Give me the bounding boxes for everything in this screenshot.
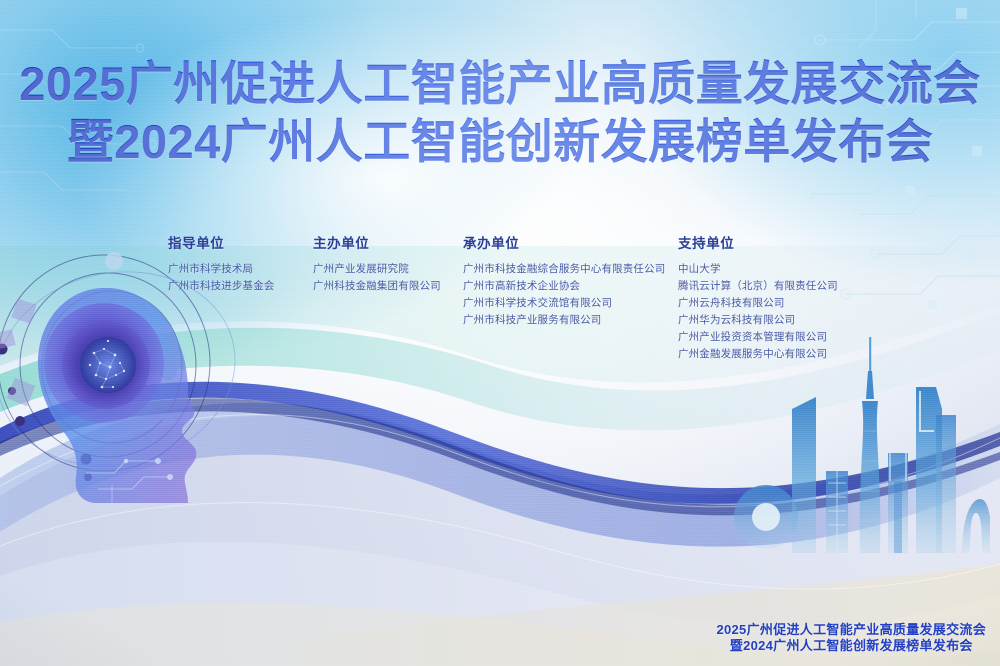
org-item: 广州市科学技术交流馆有限公司: [463, 295, 678, 312]
title-line-2: 暨2024广州人工智能创新发展榜单发布会: [0, 116, 1000, 169]
org-item: 广州金融发展服务中心有限公司: [678, 346, 858, 363]
org-item: 腾讯云计算（北京）有限责任公司: [678, 278, 858, 295]
org-item: 广州科技金融集团有限公司: [313, 278, 463, 295]
org-item: 广州产业发展研究院: [313, 261, 463, 278]
org-item: 中山大学: [678, 261, 858, 278]
org-heading: 支持单位: [678, 232, 858, 252]
org-column-support: 支持单位 中山大学 腾讯云计算（北京）有限责任公司 广州云舟科技有限公司 广州华…: [678, 232, 858, 363]
org-item: 广州市科学技术局: [168, 261, 313, 278]
conference-backdrop: 2025广州促进人工智能产业高质量发展交流会 暨2024广州人工智能创新发展榜单…: [0, 0, 1000, 666]
org-item: 广州华为云科技有限公司: [678, 312, 858, 329]
org-heading: 指导单位: [168, 232, 313, 252]
org-item: 广州云舟科技有限公司: [678, 295, 858, 312]
organization-columns: 指导单位 广州市科学技术局 广州市科技进步基金会 主办单位 广州产业发展研究院 …: [168, 232, 858, 363]
org-item: 广州产业投资资本管理有限公司: [678, 329, 858, 346]
org-item: 广州市科技产业服务有限公司: [463, 312, 678, 329]
event-title: 2025广州促进人工智能产业高质量发展交流会 暨2024广州人工智能创新发展榜单…: [0, 58, 1000, 168]
org-item: 广州市科技进步基金会: [168, 278, 313, 295]
title-line-1: 2025广州促进人工智能产业高质量发展交流会: [0, 58, 1000, 111]
watermark-line-1: 2025广州促进人工智能产业高质量发展交流会: [716, 622, 986, 638]
org-heading: 承办单位: [463, 232, 678, 252]
org-column-guidance: 指导单位 广州市科学技术局 广州市科技进步基金会: [168, 232, 313, 363]
org-item: 广州市科技金融综合服务中心有限责任公司: [463, 261, 678, 278]
org-item: 广州市高新技术企业协会: [463, 278, 678, 295]
org-column-organizer: 承办单位 广州市科技金融综合服务中心有限责任公司 广州市高新技术企业协会 广州市…: [463, 232, 678, 363]
watermark-line-2: 暨2024广州人工智能创新发展榜单发布会: [716, 638, 986, 654]
org-heading: 主办单位: [313, 232, 463, 252]
org-column-host: 主办单位 广州产业发展研究院 广州科技金融集团有限公司: [313, 232, 463, 363]
corner-watermark: 2025广州促进人工智能产业高质量发展交流会 暨2024广州人工智能创新发展榜单…: [716, 622, 986, 654]
